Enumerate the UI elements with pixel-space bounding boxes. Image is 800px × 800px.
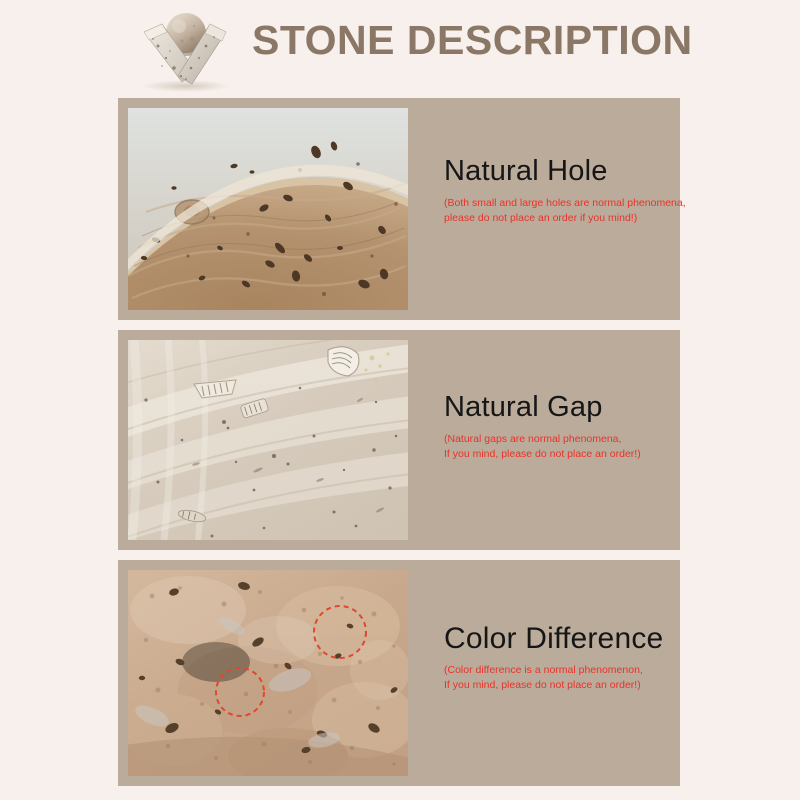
panel-natural-hole: Natural Hole (Both small and large holes…: [118, 98, 680, 320]
photo-natural-hole: [128, 108, 408, 310]
panel-text-color-difference: Color Difference (Color difference is a …: [418, 560, 680, 786]
stone-wedge-sphere-icon: [122, 6, 250, 92]
panel-color-difference: Color Difference (Color difference is a …: [118, 560, 680, 786]
photo-color-difference: [128, 570, 408, 776]
panel-note-natural-hole: (Both small and large holes are normal p…: [444, 196, 686, 226]
note-line: please do not place an order if you mind…: [444, 211, 686, 226]
panel-text-natural-hole: Natural Hole (Both small and large holes…: [418, 98, 686, 320]
page-header: STONE DESCRIPTION: [0, 0, 800, 96]
panel-heading-natural-gap: Natural Gap: [444, 392, 680, 424]
page-title: STONE DESCRIPTION: [252, 17, 693, 64]
note-line: (Both small and large holes are normal p…: [444, 196, 686, 211]
note-line: (Natural gaps are normal phenomena,: [444, 432, 680, 447]
photo-natural-gap: [128, 340, 408, 540]
note-line: (Color difference is a normal phenomenon…: [444, 663, 680, 678]
panel-note-color-difference: (Color difference is a normal phenomenon…: [444, 663, 680, 693]
panel-heading-color-difference: Color Difference: [444, 622, 680, 655]
note-line: If you mind, please do not place an orde…: [444, 447, 680, 462]
panel-heading-natural-hole: Natural Hole: [444, 156, 686, 188]
panel-note-natural-gap: (Natural gaps are normal phenomena, If y…: [444, 432, 680, 462]
note-line: If you mind, please do not place an orde…: [444, 678, 680, 693]
panel-text-natural-gap: Natural Gap (Natural gaps are normal phe…: [418, 330, 680, 550]
panel-natural-gap: Natural Gap (Natural gaps are normal phe…: [118, 330, 680, 550]
